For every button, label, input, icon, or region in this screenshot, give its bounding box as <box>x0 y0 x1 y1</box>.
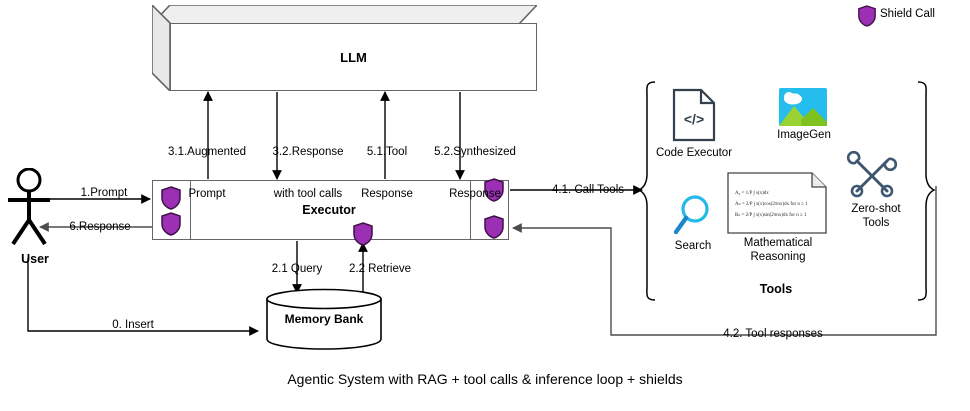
formula-document-icon[interactable]: A₀ = 1/P ∫ s(x)dx Aₙ = 2/P ∫ s(x)cos(2πn… <box>727 172 827 234</box>
tools-group-label: Tools <box>716 282 836 296</box>
magnifier-icon[interactable] <box>672 193 712 237</box>
tool-label-line2: Reasoning <box>722 250 834 264</box>
diagram-canvas: LLM Executor Shield Call User <box>0 0 970 411</box>
llm-label: LLM <box>170 23 537 91</box>
svg-text:Aₙ = 2/P ∫ s(x)cos(2πnx)dx: Aₙ = 2/P ∫ s(x)cos(2πnx)dx for n ≥ 1 <box>735 201 808 207</box>
tool-label-code-executor: Code Executor <box>648 146 740 160</box>
edge-label-line1: 5.2.Synthesized <box>415 145 535 159</box>
svg-text:A₀ = 1/P ∫ s(x)dx: A₀ = 1/P ∫ s(x)dx <box>735 190 769 196</box>
edge-label-tool-responses: 4.2. Tool responses <box>668 327 878 341</box>
edge-label-line2: Response <box>415 187 535 201</box>
tool-label-line1: Mathematical <box>722 236 834 250</box>
diagram-caption: Agentic System with RAG + tool calls & i… <box>0 372 970 386</box>
tool-label-line2: Tools <box>838 216 914 230</box>
code-glyph: </> <box>684 111 704 127</box>
memory-bank-label: Memory Bank <box>265 288 383 350</box>
llm-box-top-face <box>152 5 537 24</box>
llm-box-left-face <box>152 5 171 91</box>
user-label: User <box>2 252 68 266</box>
legend-label: Shield Call <box>880 7 970 21</box>
tool-label-line1: Zero-shot <box>838 202 914 216</box>
edge-label-synthesized-response: 5.2.Synthesized Response <box>415 117 535 229</box>
edge-label-insert: 0. Insert <box>68 318 198 332</box>
llm-node[interactable]: LLM <box>152 5 537 91</box>
user-actor-icon[interactable] <box>5 168 65 248</box>
memory-bank-node[interactable]: Memory Bank <box>265 288 383 350</box>
edge-label-retrieve: 2.2 Retrieve <box>325 262 435 276</box>
tool-label-mathematical-reasoning: Mathematical Reasoning <box>722 236 834 264</box>
edge-label-call-tools: 4.1. Call Tools <box>533 183 643 197</box>
code-document-icon[interactable]: </> <box>672 88 716 142</box>
tool-label-image-gen: ImageGen <box>763 128 845 142</box>
crossed-wrenches-icon[interactable] <box>846 150 898 202</box>
image-landscape-icon[interactable] <box>779 88 827 126</box>
tool-label-zero-shot-tools: Zero-shot Tools <box>838 202 914 230</box>
svg-text:Bₙ = 2/P ∫ s(x)sin(2πnx)dx: Bₙ = 2/P ∫ s(x)sin(2πnx)dx for n ≥ 1 <box>735 212 807 218</box>
edge-label-response: 6.Response <box>50 220 150 234</box>
tool-label-search: Search <box>655 239 731 253</box>
shield-icon-legend <box>857 5 877 27</box>
